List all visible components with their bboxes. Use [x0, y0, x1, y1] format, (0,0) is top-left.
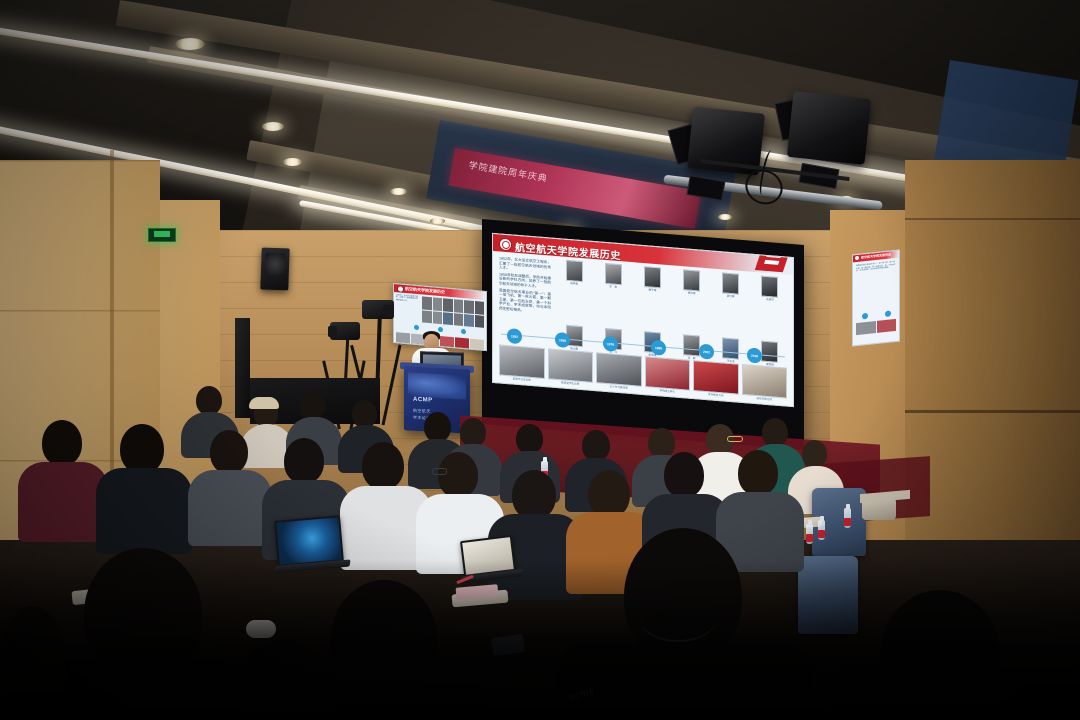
historical-photo [499, 344, 545, 378]
ceiling-downlight-icon [283, 158, 302, 166]
slide-paragraph: 1952年，北大设立航空工程系，汇聚了一批航空航天领域的优秀人才。 [499, 256, 551, 274]
eyeglasses-icon [727, 436, 743, 442]
audience-head [738, 450, 778, 496]
timeline-marker: 1952 [507, 328, 522, 344]
audience-head [648, 428, 675, 458]
portrait-cell: 王 俊 [594, 262, 632, 329]
slide-paragraph: 我国航空航天事业的"第一"：第一架飞机、第一枚火箭、第一颗卫星、第一位航天员、第… [499, 288, 551, 315]
filmstrip-item: 学院成立典礼 [645, 356, 691, 395]
filmstrip-item: 周年庆典活动 [742, 364, 788, 403]
audience-head [664, 452, 704, 498]
podium-line-1: ACMP [413, 397, 433, 404]
water-bottle[interactable] [818, 520, 825, 540]
portrait-cell: 梁守槃 [712, 272, 750, 339]
portrait-photo [722, 272, 739, 294]
historical-photo [742, 364, 788, 398]
slide-paragraph: 1958年院系调整后，学院开始建设新的学科方向，培养了一批航空航天领域的骨干人才… [499, 272, 551, 290]
ceiling-downlight-icon [175, 38, 205, 50]
timeline-marker: 2018 [747, 347, 762, 363]
audience-head [284, 438, 324, 484]
school-seal-icon [499, 237, 512, 251]
audience-head [300, 392, 325, 420]
ceiling-downlight-icon [718, 214, 732, 220]
ceiling-downlight-icon [390, 188, 407, 195]
audience-head [42, 420, 82, 466]
audience-head [802, 440, 827, 468]
historical-photo [548, 348, 594, 382]
audience-head [438, 452, 478, 498]
stage-light-icon [787, 91, 871, 165]
secondary-display-right: 航空航天学院发展历史 我国航空航天事业的"第一"：第一架飞机、第一枚火箭、第一颗… [852, 249, 900, 346]
portrait-photo [761, 276, 778, 298]
audience-head [516, 424, 543, 454]
lecture-hall-photo: 学院建院周年庆典 航空航天学院发展历史 1952年，北大设立航空工程系，汇聚了一… [0, 0, 1080, 720]
podium-line-2: 航空航天 [413, 408, 431, 415]
timeline-marker: 1978 [603, 336, 618, 352]
timeline-marker: 1958 [555, 332, 570, 348]
portrait-photo [566, 260, 583, 282]
filmstrip-item: 学术报告大会 [693, 360, 739, 399]
audience-head [582, 430, 610, 461]
water-bottle[interactable] [844, 508, 851, 528]
camera-lens [383, 305, 394, 317]
slide-content: 航空航天学院发展历史 1952年，北大设立航空工程系，汇聚了一批航空航天领域的优… [492, 233, 794, 407]
audience-head [352, 400, 377, 428]
audience-torso [18, 462, 108, 542]
portrait-name: 钱学森 [564, 282, 584, 287]
portrait-cell: 庄逢甘 [751, 275, 789, 342]
filmstrip-item: 五十年代集体照 [596, 352, 642, 391]
school-seal-icon [397, 285, 404, 293]
cap-icon [249, 397, 279, 409]
portrait-name: 王 俊 [603, 285, 623, 290]
audience-head [762, 418, 788, 447]
audience-head [424, 412, 451, 442]
secondary-display-left: 航空航天学院发展历史 1952年，北大设立航空工程系，汇聚了一批航空航天领域的优… [393, 283, 487, 351]
historical-photo [645, 356, 691, 390]
panel-text: 1952年，北大设立航空工程系，汇聚了一批航空航天领域的优秀人才。 [394, 292, 420, 324]
audience-torso [96, 468, 192, 554]
poster-title: 航空航天学院发展历史 [861, 252, 891, 259]
audience-head [120, 424, 164, 474]
loudspeaker-icon [260, 248, 289, 291]
timeline-marker: 2002 [699, 344, 714, 360]
speaker-column [235, 318, 250, 418]
audience-head [588, 470, 630, 518]
panel-portrait-grid [420, 294, 486, 330]
audience-head [460, 418, 486, 447]
audience-torso [188, 470, 272, 546]
filmstrip-item: 教研室师生合影 [548, 348, 594, 387]
portrait-photo [605, 263, 622, 285]
audience-head [210, 430, 248, 474]
portrait-name: 黄纬禄 [682, 291, 702, 296]
portrait-name: 庄逢甘 [760, 297, 780, 302]
filmstrip-item: 首届毕业生合影 [499, 344, 545, 383]
ceiling-downlight-icon [262, 122, 284, 131]
audience-head [362, 442, 404, 490]
exit-sign-icon [148, 228, 176, 242]
portrait-cell: 钱学森 [555, 259, 593, 326]
audience-head [512, 470, 556, 520]
audience-head [196, 386, 222, 415]
portrait-cell: 黄纬禄 [673, 268, 711, 335]
historical-photo [596, 352, 642, 386]
portrait-name: 梁守槃 [721, 294, 741, 299]
portrait-photo [683, 269, 700, 291]
portrait-name: 屠守锷 [642, 288, 662, 293]
water-bottle[interactable] [806, 524, 813, 544]
timeline-marker: 1988 [651, 340, 666, 356]
school-seal-icon [855, 256, 859, 260]
foreground-shadow [0, 560, 1080, 720]
eyeglasses-icon [432, 468, 447, 475]
podium-graphic [408, 372, 466, 399]
historical-photo [693, 360, 739, 394]
camera-lens [328, 326, 337, 337]
portrait-cell: 屠守锷 [633, 265, 671, 332]
poster-text: 我国航空航天事业的"第一"：第一架飞机、第一枚火箭、第一颗卫星、第一位航天员、第… [853, 258, 899, 315]
portrait-photo [644, 266, 661, 288]
ceiling-downlight-icon [430, 218, 445, 224]
laptop-screen [276, 517, 341, 564]
